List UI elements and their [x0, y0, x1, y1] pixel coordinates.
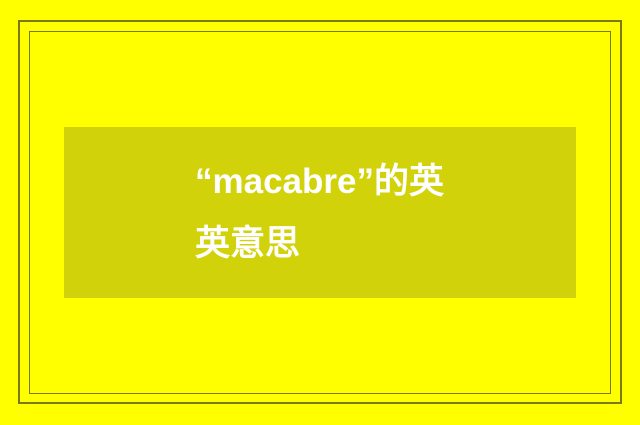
title-text: “macabre”的英英意思	[195, 151, 445, 275]
title-banner-panel: “macabre”的英英意思	[64, 127, 576, 298]
image-canvas: “macabre”的英英意思	[0, 0, 640, 425]
